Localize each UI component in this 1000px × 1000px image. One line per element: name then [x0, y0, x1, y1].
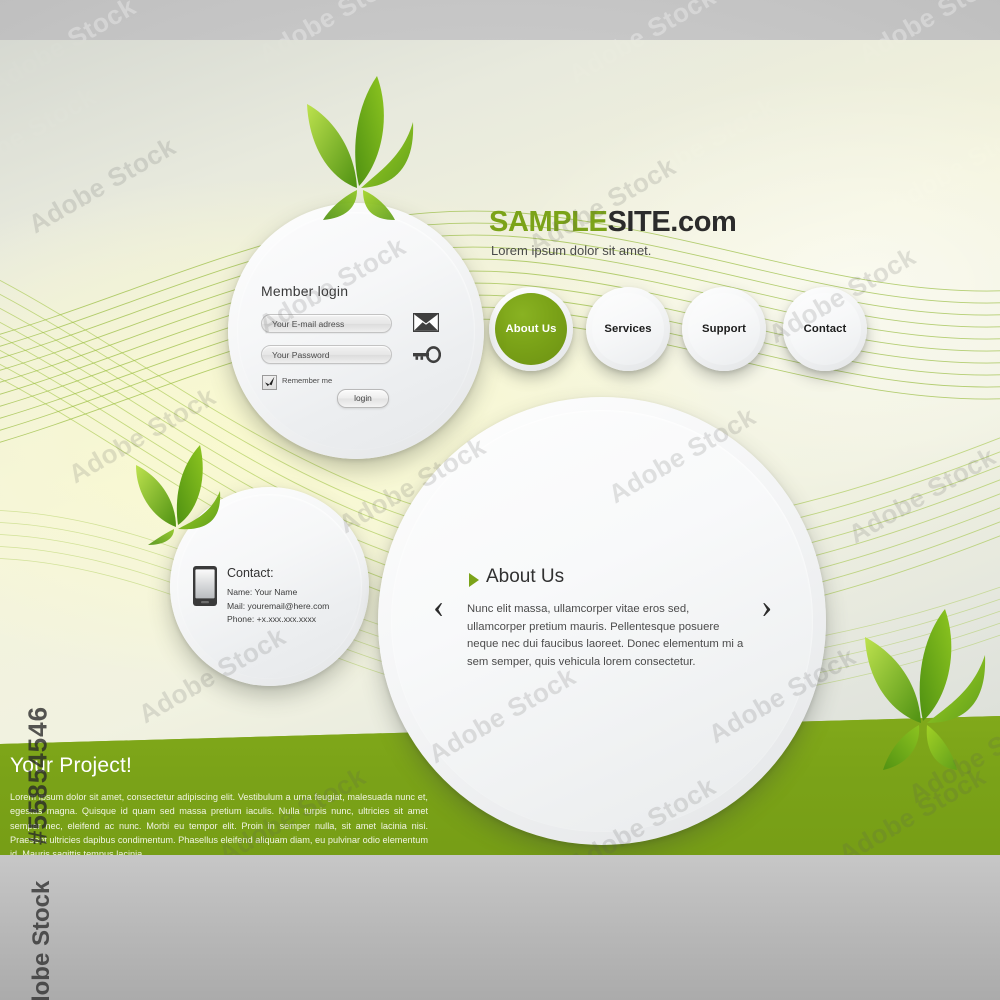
play-triangle-icon [468, 572, 480, 588]
leaf-cluster-middle-left [120, 435, 230, 545]
nav-button-contact[interactable]: Contact [783, 287, 867, 371]
asset-id-watermark: #55854546 [23, 696, 54, 856]
member-login-title: Member login [261, 283, 348, 299]
nav-button-label: Contact [804, 323, 847, 335]
nav-button-support[interactable]: Support [682, 287, 766, 371]
logo-part-dark: SITE.com [607, 206, 736, 238]
nav-button-about-us[interactable]: About Us [489, 287, 573, 371]
content-heading: About Us [486, 566, 564, 588]
contact-mail-line: Mail: youremail@here.com [227, 600, 329, 614]
mobile-phone-icon [192, 565, 218, 607]
nav-button-face: Support [688, 293, 760, 365]
nav-button-face: Contact [789, 293, 861, 365]
carousel-next-button[interactable]: › [761, 590, 772, 624]
remember-me-label: Remember me [282, 376, 332, 385]
site-tagline: Lorem ipsum dolor sit amet. [491, 243, 651, 258]
email-input[interactable]: Your E-mail adress [261, 314, 392, 333]
project-footer-body: Lorem ipsum dolor sit amet, consectetur … [10, 790, 428, 855]
carousel-prev-button[interactable]: ‹ [433, 590, 444, 624]
content-body: Nunc elit massa, ullamcorper vitae eros … [467, 601, 749, 671]
login-button[interactable]: login [337, 389, 389, 408]
nav-button-face: About Us [495, 293, 567, 365]
contact-card-details: Name: Your Name Mail: youremail@here.com… [227, 586, 329, 627]
envelope-icon [413, 313, 439, 332]
leaf-cluster-bottom-right [845, 605, 1000, 770]
checkmark-icon [263, 376, 276, 389]
key-icon [413, 345, 441, 364]
bottom-strip [0, 855, 1000, 1000]
contact-name-line: Name: Your Name [227, 586, 329, 600]
contact-card-title: Contact: [227, 566, 274, 580]
nav-button-label: Services [604, 323, 651, 335]
member-login-card: Member login Your E-mail adress Your Pas… [228, 203, 484, 459]
logo-part-green: SAMPLE [489, 206, 607, 238]
stock-side-watermark: Adobe Stock [28, 854, 56, 1000]
password-input[interactable]: Your Password [261, 345, 392, 364]
nav-button-label: Support [702, 323, 746, 335]
screenshot-stage: Adobe Stock Adobe Stock Adobe Stock Adob… [0, 0, 1000, 1000]
site-logo[interactable]: SAMPLESITE.com [489, 206, 736, 239]
leaf-cluster-top [285, 60, 425, 220]
nav-button-services[interactable]: Services [586, 287, 670, 371]
page-canvas: Your Project! Lorem ipsum dolor sit amet… [0, 40, 1000, 855]
nav-button-label: About Us [505, 323, 556, 335]
nav-button-face: Services [592, 293, 664, 365]
remember-me-checkbox[interactable] [262, 375, 277, 390]
content-card-about: ‹ › About Us Nunc elit massa, ullamcorpe… [378, 397, 826, 845]
contact-phone-line: Phone: +x.xxx.xxx.xxxx [227, 613, 329, 627]
